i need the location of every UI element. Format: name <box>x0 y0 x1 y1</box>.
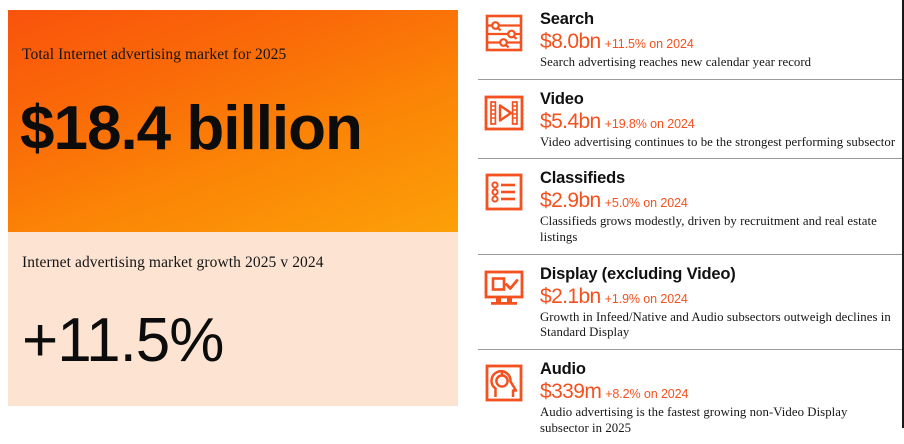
subsector-delta: +11.5% on 2024 <box>605 37 694 51</box>
list-item-body: Classifieds $2.9bn+5.0% on 2024 Classifi… <box>540 168 898 245</box>
total-market-label: Total Internet advertising market for 20… <box>22 46 286 64</box>
subsector-figures: $339m+8.2% on 2024 <box>540 380 898 403</box>
subsector-description: Growth in Infeed/Native and Audio subsec… <box>540 310 898 341</box>
list-item-display[interactable]: Display (excluding Video) $2.1bn+1.9% on… <box>478 255 902 350</box>
subsector-figures: $8.0bn+11.5% on 2024 <box>540 30 898 53</box>
infographic-page: Total Internet advertising market for 20… <box>0 0 904 428</box>
subsector-description: Audio advertising is the fastest growing… <box>540 405 898 436</box>
subsector-description: Search advertising reaches new calendar … <box>540 55 898 71</box>
subsector-list: Search $8.0bn+11.5% on 2024 Search adver… <box>478 0 902 428</box>
subsector-amount: $8.0bn <box>540 30 601 53</box>
subsector-amount: $2.9bn <box>540 189 601 212</box>
search-sliders-icon <box>482 11 526 55</box>
market-growth-label: Internet advertising market growth 2025 … <box>22 254 324 272</box>
video-filmstrip-play-icon <box>482 91 526 135</box>
subsector-title: Audio <box>540 360 898 379</box>
subsector-description: Classifieds grows modestly, driven by re… <box>540 214 898 245</box>
market-growth-value: +11.5% <box>22 310 223 372</box>
classifieds-list-icon <box>482 170 526 214</box>
subsector-title: Search <box>540 10 898 29</box>
list-item-audio[interactable]: Audio $339m+8.2% on 2024 Audio advertisi… <box>478 350 902 444</box>
subsector-figures: $2.9bn+5.0% on 2024 <box>540 189 898 212</box>
subsector-figures: $5.4bn+19.8% on 2024 <box>540 110 898 133</box>
subsector-delta: +1.9% on 2024 <box>605 292 688 306</box>
subsector-delta: +19.8% on 2024 <box>605 117 695 131</box>
subsector-description: Video advertising continues to be the st… <box>540 135 898 151</box>
list-item-search[interactable]: Search $8.0bn+11.5% on 2024 Search adver… <box>478 0 902 80</box>
list-item-classifieds[interactable]: Classifieds $2.9bn+5.0% on 2024 Classifi… <box>478 159 902 254</box>
subsector-title: Video <box>540 90 898 109</box>
subsector-amount: $2.1bn <box>540 285 601 308</box>
subsector-delta: +5.0% on 2024 <box>605 196 688 210</box>
list-item-body: Search $8.0bn+11.5% on 2024 Search adver… <box>540 9 898 71</box>
total-market-value: $18.4 billion <box>20 98 362 160</box>
market-growth-card: Internet advertising market growth 2025 … <box>8 232 458 406</box>
subsector-title: Display (excluding Video) <box>540 265 898 284</box>
subsector-amount: $339m <box>540 380 601 403</box>
list-item-body: Video $5.4bn+19.8% on 2024 Video adverti… <box>540 89 898 151</box>
left-summary-column: Total Internet advertising market for 20… <box>8 10 458 406</box>
subsector-title: Classifieds <box>540 169 898 188</box>
subsector-delta: +8.2% on 2024 <box>605 387 688 401</box>
list-item-video[interactable]: Video $5.4bn+19.8% on 2024 Video adverti… <box>478 80 902 160</box>
display-monitor-check-icon <box>482 266 526 310</box>
subsector-amount: $5.4bn <box>540 110 601 133</box>
subsector-figures: $2.1bn+1.9% on 2024 <box>540 285 898 308</box>
audio-headphones-head-icon <box>482 361 526 405</box>
total-market-card: Total Internet advertising market for 20… <box>8 10 458 232</box>
list-item-body: Display (excluding Video) $2.1bn+1.9% on… <box>540 264 898 341</box>
list-item-body: Audio $339m+8.2% on 2024 Audio advertisi… <box>540 359 898 436</box>
